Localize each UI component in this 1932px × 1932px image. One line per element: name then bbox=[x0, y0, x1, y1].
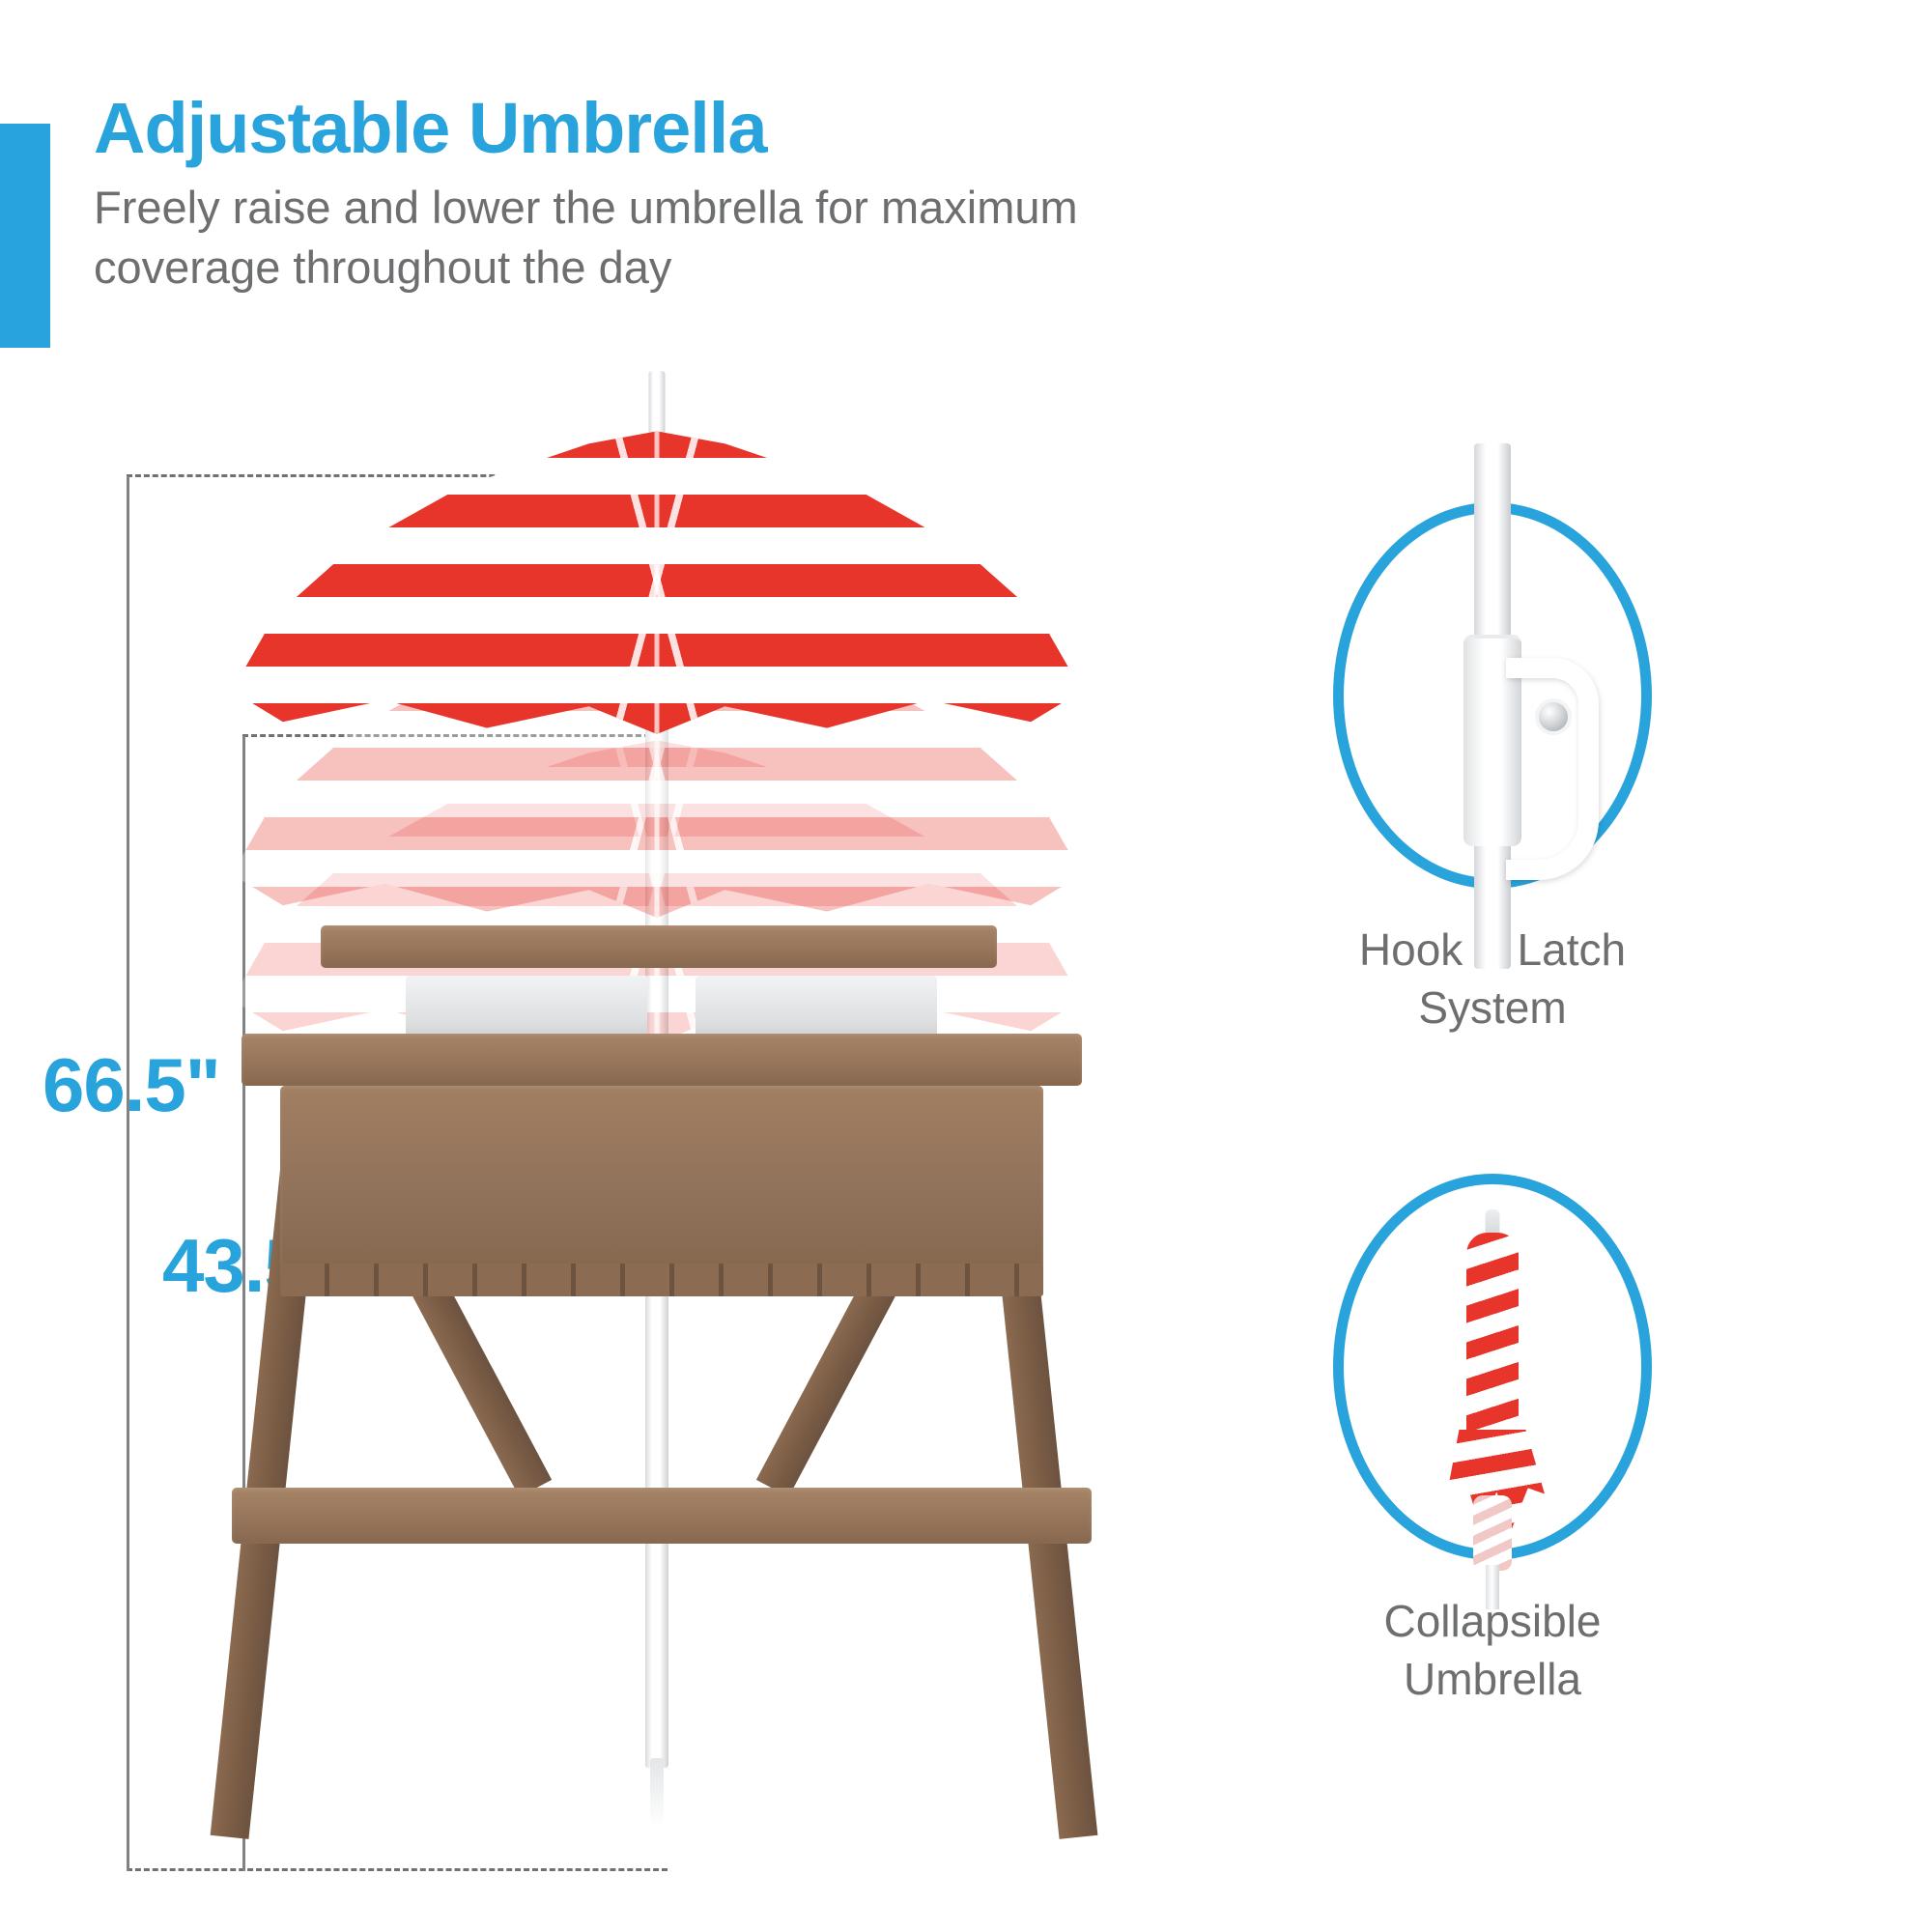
callout-label-collapsible-umbrella: Collapsible Umbrella bbox=[1265, 1593, 1719, 1709]
table-leg-left-inner bbox=[406, 1266, 552, 1497]
header-accent-bar bbox=[0, 124, 50, 348]
callout-ring-collapsible-umbrella bbox=[1333, 1174, 1652, 1560]
picnic-table bbox=[174, 908, 1140, 1884]
callout-hook-latch: Hook & Latch System bbox=[1265, 502, 1719, 1037]
callout-ring-hook-latch bbox=[1333, 502, 1652, 889]
table-top-surface bbox=[241, 1034, 1082, 1086]
table-apron-panel bbox=[280, 1086, 1043, 1269]
table-slat-strip bbox=[280, 1264, 1043, 1296]
callout-label-line2: Umbrella bbox=[1265, 1651, 1719, 1709]
callout-label-line2: System bbox=[1265, 980, 1719, 1037]
callout-collapsible-umbrella: Collapsible Umbrella bbox=[1265, 1174, 1719, 1709]
collapsed-umbrella-body bbox=[1466, 1233, 1519, 1441]
umbrella-canopy bbox=[232, 425, 1082, 734]
bench-seat-front bbox=[232, 1488, 1092, 1544]
collapsed-umbrella-shaft bbox=[1486, 1565, 1499, 1609]
page-subtitle: Freely raise and lower the umbrella for … bbox=[94, 178, 1234, 298]
table-leg-right-inner bbox=[756, 1266, 902, 1497]
collapsed-umbrella-sleeve bbox=[1473, 1495, 1512, 1571]
latch-hook-icon bbox=[1506, 658, 1599, 880]
umbrella-striped-fabric bbox=[232, 425, 1082, 734]
page-title: Adjustable Umbrella bbox=[94, 93, 1350, 164]
dimension-line-overall-height bbox=[127, 476, 129, 1871]
bench-seat-back bbox=[321, 925, 997, 968]
product-photo-stage bbox=[145, 367, 1169, 1884]
collapsed-umbrella-icon bbox=[1439, 1209, 1546, 1557]
latch-screw-icon bbox=[1535, 698, 1572, 735]
header-text-block: Adjustable Umbrella Freely raise and low… bbox=[94, 93, 1350, 298]
